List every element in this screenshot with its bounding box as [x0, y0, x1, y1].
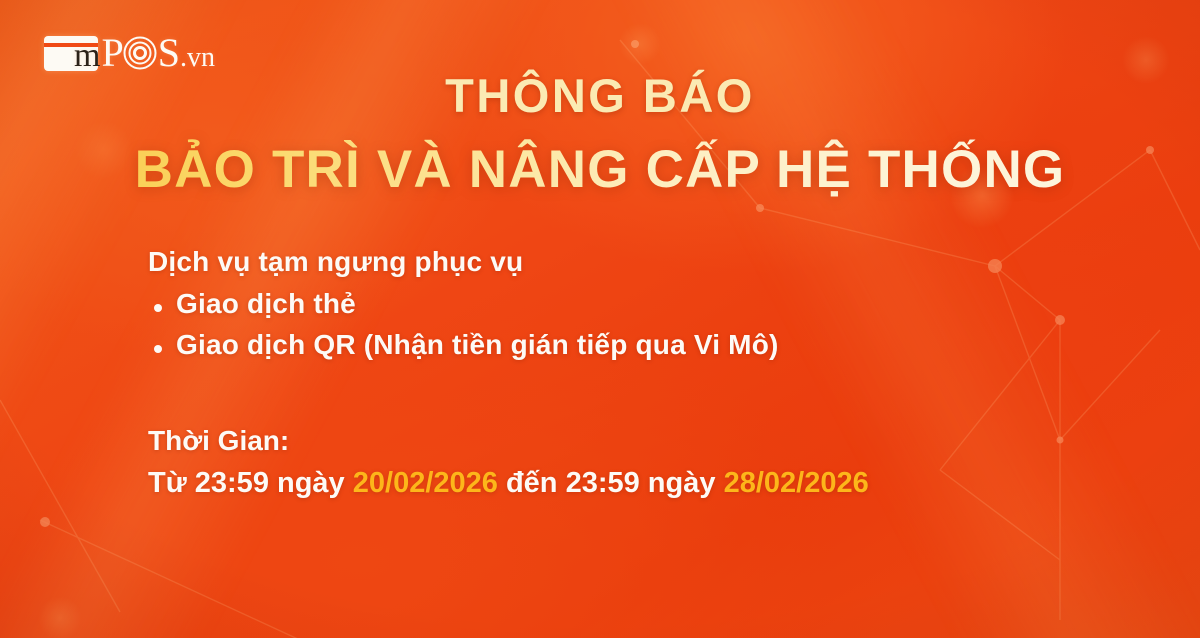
maintenance-notice-banner: m P S .vn THÔNG BÁO BẢO TRÌ VÀ NÂNG CẤP …	[0, 0, 1200, 638]
list-item: Giao dịch thẻ	[176, 288, 779, 320]
logo-letter-s: S	[158, 33, 180, 73]
time-from-date: 20/02/2026	[353, 467, 498, 499]
time-label: Thời Gian:	[148, 425, 869, 457]
suspended-services-block: Dịch vụ tạm ngưng phục vụ Giao dịch thẻ …	[148, 246, 779, 361]
logo-letter-p: P	[101, 33, 123, 73]
time-range: Từ 23:59 ngày 20/02/2026 đến 23:59 ngày …	[148, 467, 869, 500]
page-subtitle: BẢO TRÌ VÀ NÂNG CẤP HỆ THỐNG	[0, 139, 1200, 200]
signal-rings-icon	[125, 38, 156, 69]
time-to-date: 28/02/2026	[724, 467, 869, 499]
time-to-prefix: đến 23:59 ngày	[506, 467, 716, 499]
maintenance-window-block: Thời Gian: Từ 23:59 ngày 20/02/2026 đến …	[148, 425, 869, 500]
suspended-services-list: Giao dịch thẻ Giao dịch QR (Nhận tiền gi…	[148, 288, 779, 361]
logo-wordmark: m P S .vn	[74, 33, 215, 73]
suspended-services-label: Dịch vụ tạm ngưng phục vụ	[148, 246, 779, 278]
page-title: THÔNG BÁO	[0, 68, 1200, 123]
time-from-prefix: Từ 23:59 ngày	[148, 467, 345, 499]
list-item: Giao dịch QR (Nhận tiền gián tiếp qua Vi…	[176, 329, 779, 361]
